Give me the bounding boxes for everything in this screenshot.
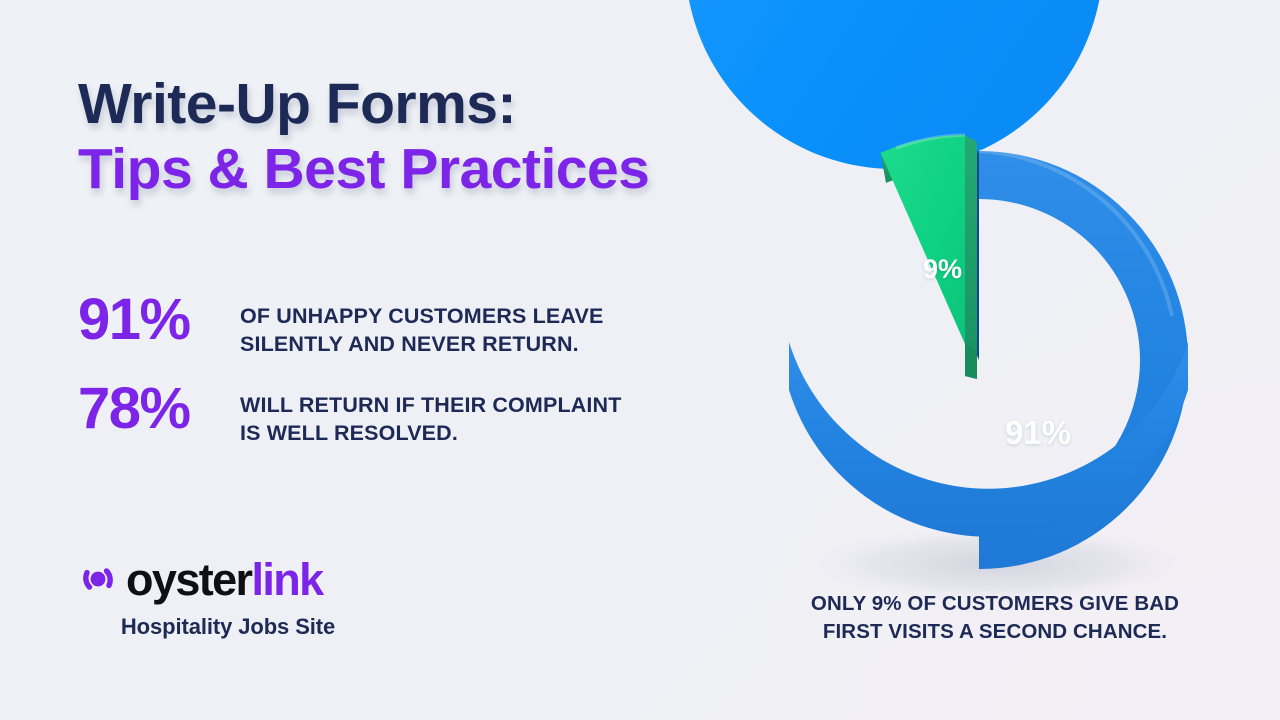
logo-wordmark: oysterlink	[126, 557, 323, 602]
infographic-slide: Write-Up Forms: Tips & Best Practices 91…	[0, 0, 1280, 720]
statistics-list: 91% OF UNHAPPY CUSTOMERS LEAVE SILENTLY …	[78, 292, 718, 470]
logo-word-link: link	[251, 554, 322, 605]
stat-item: 78% WILL RETURN IF THEIR COMPLAINT IS WE…	[78, 381, 718, 448]
title-line-1: Write-Up Forms:	[78, 72, 718, 137]
stat-percent: 91%	[78, 292, 240, 349]
logo-tagline: Hospitality Jobs Site	[78, 614, 378, 640]
oyster-shell-icon	[78, 559, 118, 599]
pie-chart: 9% 91%	[760, 140, 1230, 610]
stat-item: 91% OF UNHAPPY CUSTOMERS LEAVE SILENTLY …	[78, 292, 718, 359]
headline-block: Write-Up Forms: Tips & Best Practices	[78, 72, 718, 202]
stat-description-line-1: WILL RETURN IF THEIR COMPLAINT	[240, 391, 622, 419]
chart-caption-line-1: ONLY 9% OF CUSTOMERS GIVE BAD	[760, 590, 1230, 618]
title-line-2: Tips & Best Practices	[78, 137, 718, 202]
stat-description-line-1: OF UNHAPPY CUSTOMERS LEAVE	[240, 302, 603, 330]
stat-description: WILL RETURN IF THEIR COMPLAINT IS WELL R…	[240, 381, 622, 448]
stat-percent: 78%	[78, 381, 240, 438]
chart-caption: ONLY 9% OF CUSTOMERS GIVE BAD FIRST VISI…	[760, 590, 1230, 647]
stat-description-line-2: IS WELL RESOLVED.	[240, 419, 622, 447]
stat-description: OF UNHAPPY CUSTOMERS LEAVE SILENTLY AND …	[240, 292, 603, 359]
stat-description-line-2: SILENTLY AND NEVER RETURN.	[240, 330, 603, 358]
page-title: Write-Up Forms: Tips & Best Practices	[78, 72, 718, 202]
pie-chart-graphic	[760, 140, 1230, 610]
brand-logo: oysterlink Hospitality Jobs Site	[78, 552, 378, 640]
logo-word-oyster: oyster	[126, 554, 251, 605]
pie-slice-label-9: 9%	[923, 256, 962, 283]
chart-caption-line-2: FIRST VISITS A SECOND CHANCE.	[760, 618, 1230, 646]
logo-wordmark-row: oysterlink	[78, 552, 378, 606]
pie-slice-label-91: 91%	[1005, 416, 1071, 449]
